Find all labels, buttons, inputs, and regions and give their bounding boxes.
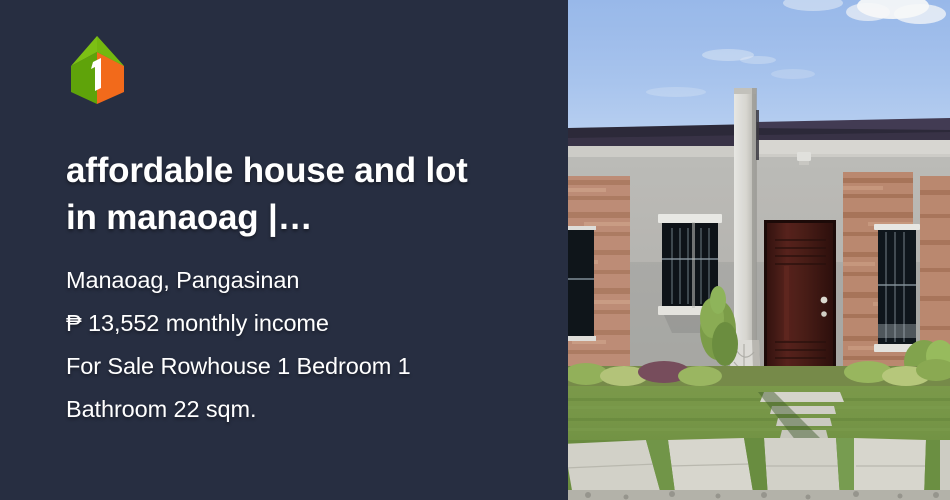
property-photo xyxy=(568,0,950,500)
listing-location: Manaoag, Pangasinan xyxy=(66,259,518,302)
listing-description: For Sale Rowhouse 1 Bedroom 1 Bathroom 2… xyxy=(66,345,518,431)
listing-title: affordable house and lot in manaoag |… xyxy=(66,104,506,241)
listing-price: ₱ 13,552 monthly income xyxy=(66,302,518,345)
listing-details: Manaoag, Pangasinan ₱ 13,552 monthly inc… xyxy=(66,241,518,431)
property-listing-card: affordable house and lot in manaoag |… M… xyxy=(0,0,950,500)
house-one-logo[interactable] xyxy=(66,36,128,104)
listing-info-panel: affordable house and lot in manaoag |… M… xyxy=(0,0,568,500)
